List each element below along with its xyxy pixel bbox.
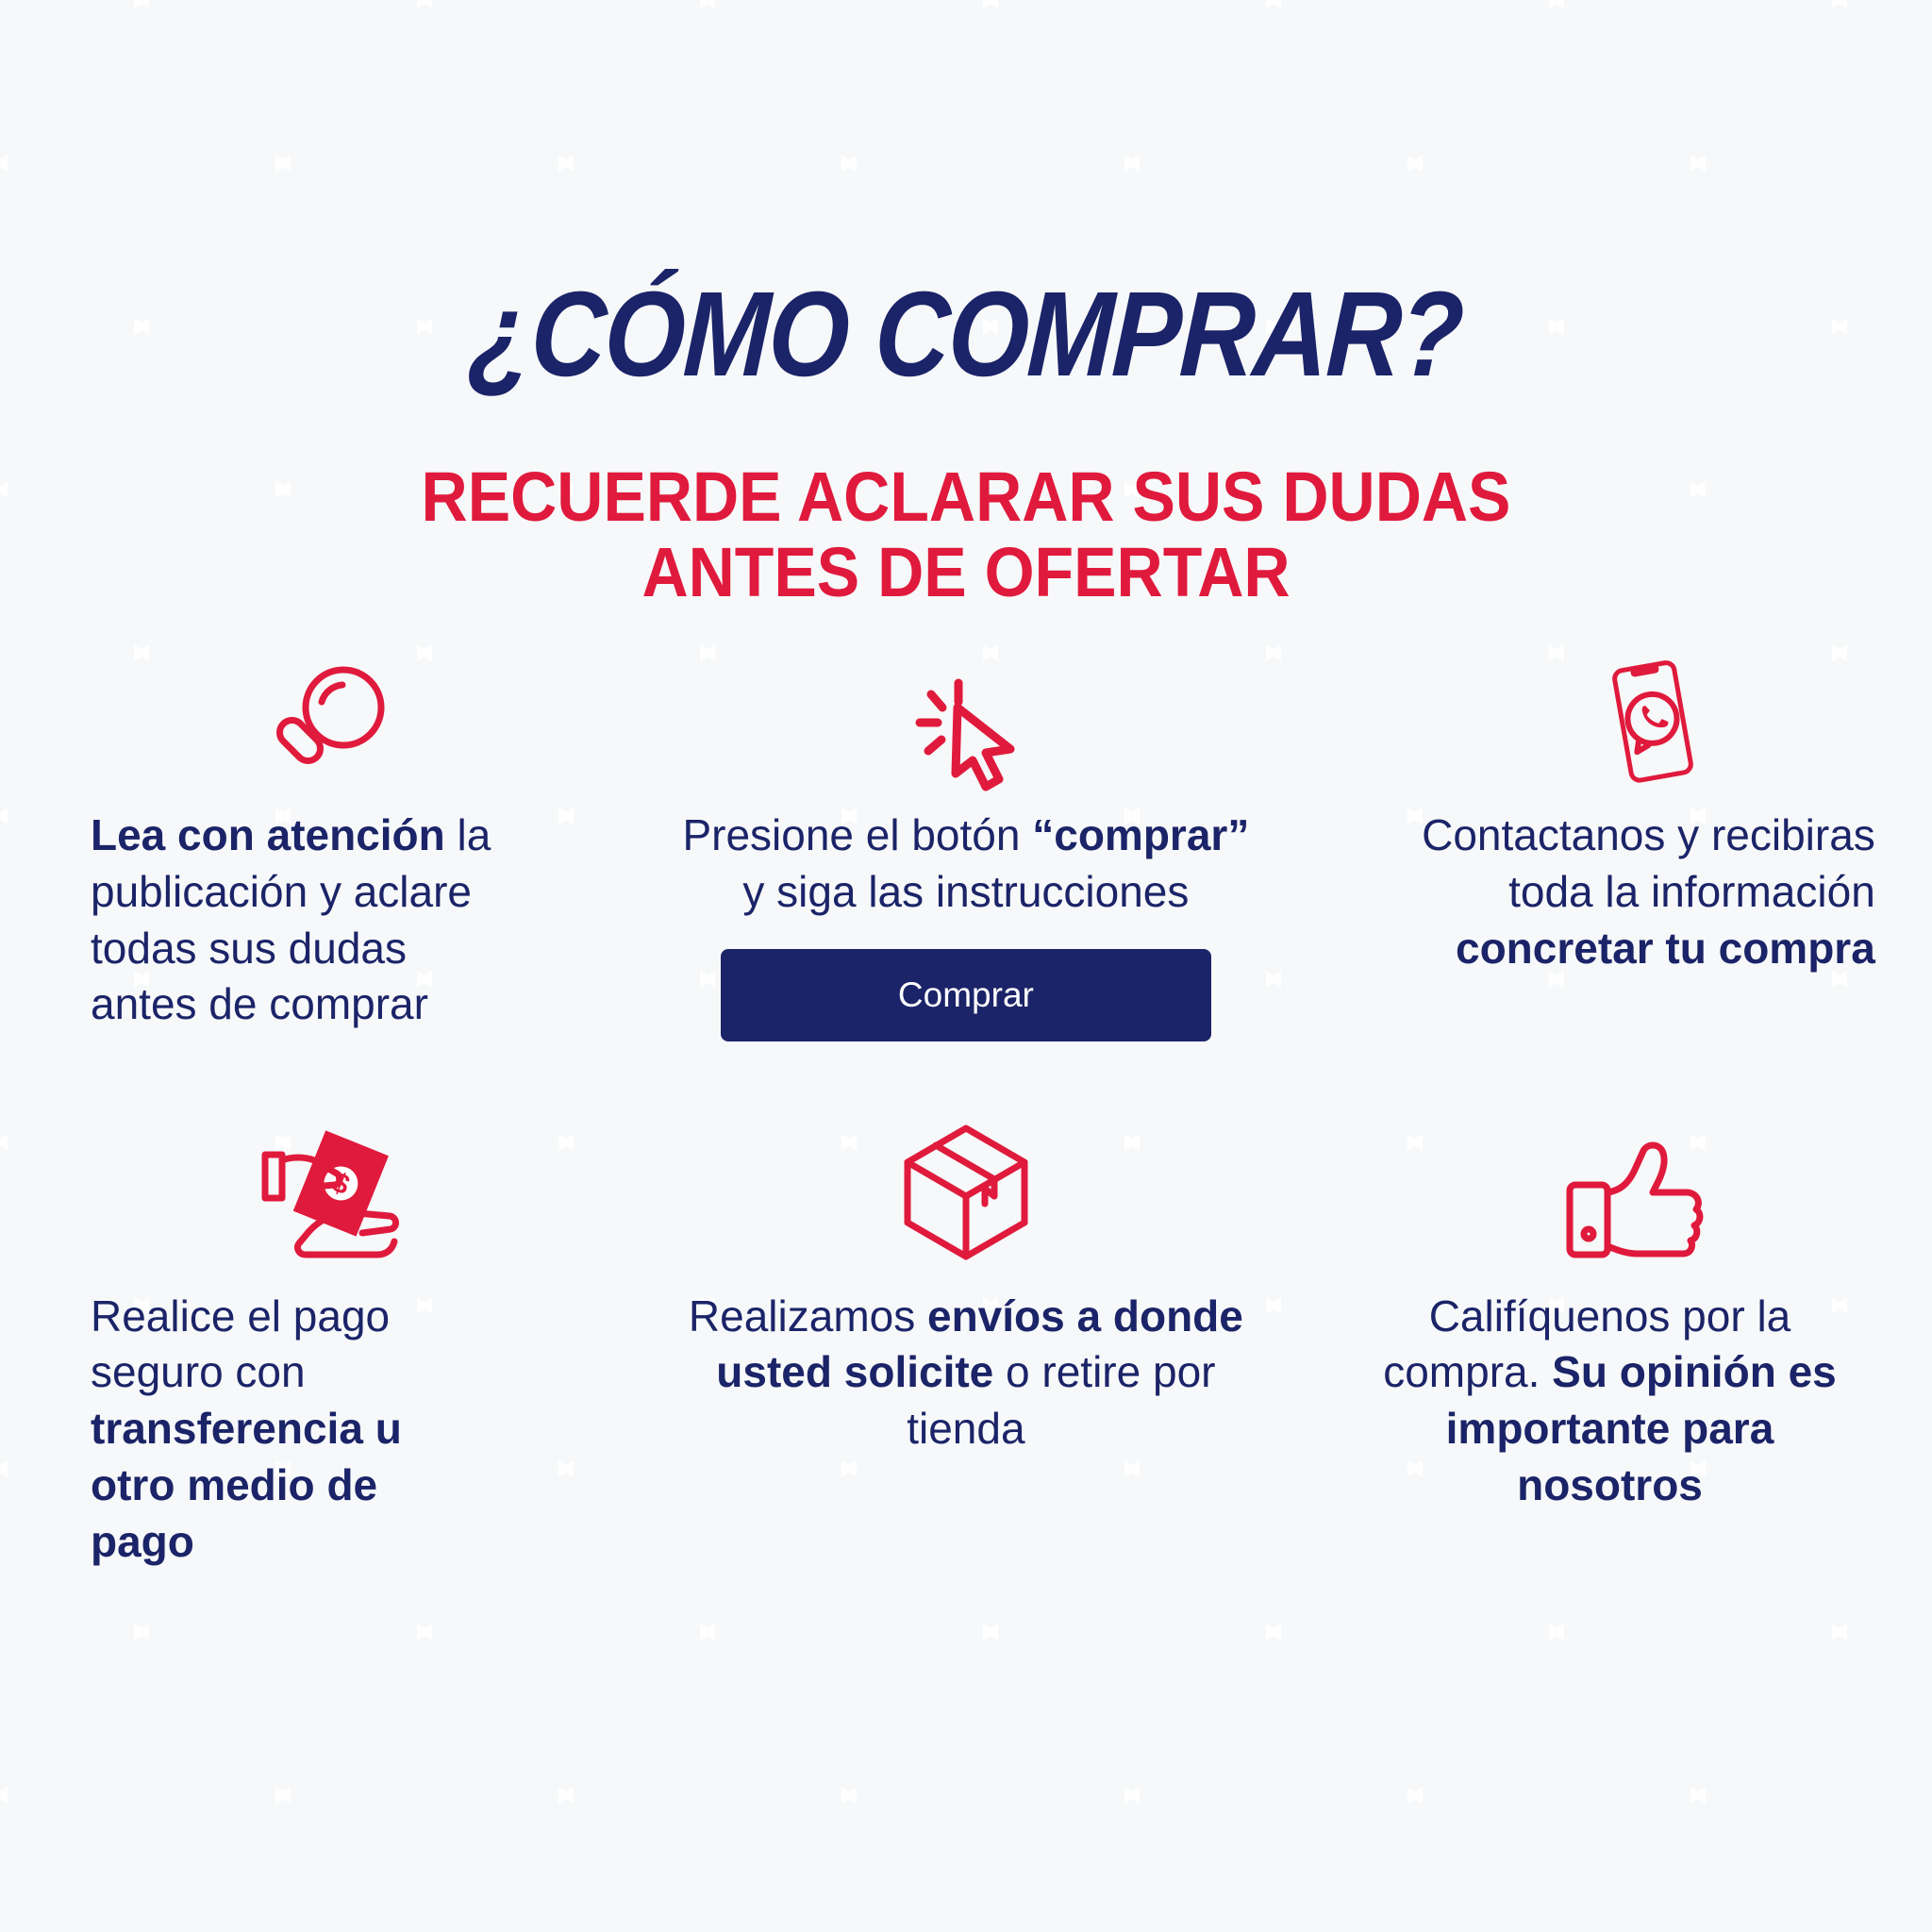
whatsapp-phone-icon [1581,651,1723,792]
step-read-listing: Lea con atención la publicación y aclare… [0,651,644,1041]
steps-row-top: Lea con atención la publicación y aclare… [0,651,1932,1041]
steps-grid: Lea con atención la publicación y aclare… [0,651,1932,1571]
comprar-button[interactable]: Comprar [721,949,1211,1041]
page-subtitle: RECUERDE ACLARAR SUS DUDAS ANTES DE OFER… [0,459,1932,610]
step-press-buy-text: Presione el botón “comprar” y siga las i… [644,808,1289,921]
package-box-icon-wrap [644,1104,1289,1264]
step-shipping: Realizamos envíos a donde usted solicite… [644,1104,1289,1571]
steps-row-bottom: $ Realice el pago seguro con transferenc… [0,1104,1932,1571]
page-subtitle-line-2: ANTES DE OFERTAR [77,535,1855,610]
package-box-icon [891,1113,1041,1264]
whatsapp-phone-icon-wrap [1288,651,1932,792]
step-rate-us-text: Califíquenos por la compra. Su opinión e… [1288,1289,1932,1514]
thumbs-up-icon-wrap [1288,1104,1932,1264]
step-press-buy: Presione el botón “comprar” y siga las i… [644,651,1289,1041]
money-hands-icon: $ [254,1113,419,1264]
step-read-listing-text: Lea con atención la publicación y aclare… [0,808,644,1033]
magnifier-icon-wrap [0,651,644,792]
click-cursor-icon [905,670,1027,792]
step-shipping-text: Realizamos envíos a donde usted solicite… [644,1289,1289,1457]
click-cursor-icon-wrap [644,651,1289,792]
step-rate-us: Califíquenos por la compra. Su opinión e… [1288,1104,1932,1571]
money-hands-icon-wrap: $ [0,1104,644,1264]
magnifier-icon [256,660,397,792]
page-title-block: ¿CÓMO COMPRAR? [0,274,1932,397]
thumbs-up-icon [1553,1123,1704,1264]
step-secure-payment: $ Realice el pago seguro con transferenc… [0,1104,644,1571]
step-contact-us: Contactanos y recibiras toda la informac… [1288,651,1932,1041]
step-secure-payment-text: Realice el pago seguro con transferencia… [0,1289,644,1571]
page-title: ¿CÓMO COMPRAR? [467,274,1465,397]
step-contact-us-text: Contactanos y recibiras toda la informac… [1288,808,1932,976]
page-subtitle-line-1: RECUERDE ACLARAR SUS DUDAS [77,459,1855,535]
